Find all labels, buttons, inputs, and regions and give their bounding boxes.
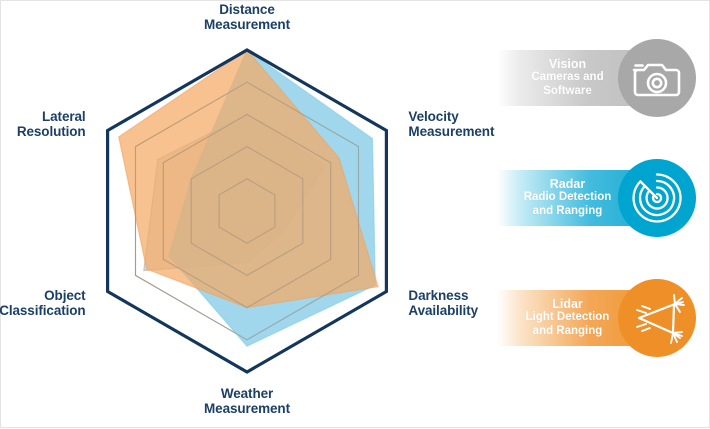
axis-label-line: Weather xyxy=(167,386,327,401)
axis-label-line: Classification xyxy=(0,303,86,318)
legend-title-lidar: Lidar xyxy=(552,298,583,312)
axis-label-line: Distance xyxy=(167,2,327,17)
legend-badge-lidar[interactable] xyxy=(618,279,696,357)
legend-title-radar: Radar xyxy=(550,178,585,192)
axis-label-line: Resolution xyxy=(0,124,86,139)
figure-frame: DistanceMeasurement VelocityMeasurement … xyxy=(0,0,710,428)
axis-label-object-classification: ObjectClassification xyxy=(0,288,86,318)
series-area-lidar xyxy=(119,50,378,308)
legend-line2-lidar: Light Detection xyxy=(526,311,610,325)
legend-title-vision: Vision xyxy=(549,58,586,72)
legend-line3-radar: and Ranging xyxy=(533,205,603,219)
radar-chart: DistanceMeasurement VelocityMeasurement … xyxy=(1,1,501,429)
legend-badge-vision[interactable] xyxy=(618,39,696,117)
legend-badge-radar[interactable] xyxy=(618,159,696,237)
laser-beam-icon xyxy=(618,279,696,357)
legend-line3-vision: Software xyxy=(543,85,592,99)
legend: Vision Cameras and Software Radar xyxy=(493,1,710,429)
axis-label-distance-measurement: DistanceMeasurement xyxy=(167,2,327,32)
camera-icon xyxy=(618,39,696,117)
legend-item-radar[interactable]: Radar Radio Detection and Ranging xyxy=(497,159,702,237)
radar-chart-svg xyxy=(1,1,501,429)
axis-label-lateral-resolution: LateralResolution xyxy=(0,109,86,139)
radar-waves-icon xyxy=(618,159,696,237)
legend-line3-lidar: and Ranging xyxy=(533,325,603,339)
legend-line2-radar: Radio Detection xyxy=(524,191,612,205)
legend-item-lidar[interactable]: Lidar Light Detection and Ranging xyxy=(497,279,702,357)
axis-label-weather-measurement: WeatherMeasurement xyxy=(167,386,327,416)
axis-label-line: Measurement xyxy=(167,401,327,416)
legend-line2-vision: Cameras and xyxy=(531,71,603,85)
axis-label-line: Measurement xyxy=(167,17,327,32)
axis-label-line: Object xyxy=(0,288,86,303)
legend-label-lidar: Lidar Light Detection and Ranging xyxy=(497,290,638,346)
legend-item-vision[interactable]: Vision Cameras and Software xyxy=(497,39,702,117)
legend-label-vision: Vision Cameras and Software xyxy=(497,50,638,106)
legend-label-radar: Radar Radio Detection and Ranging xyxy=(497,170,638,226)
axis-label-line: Lateral xyxy=(0,109,86,124)
